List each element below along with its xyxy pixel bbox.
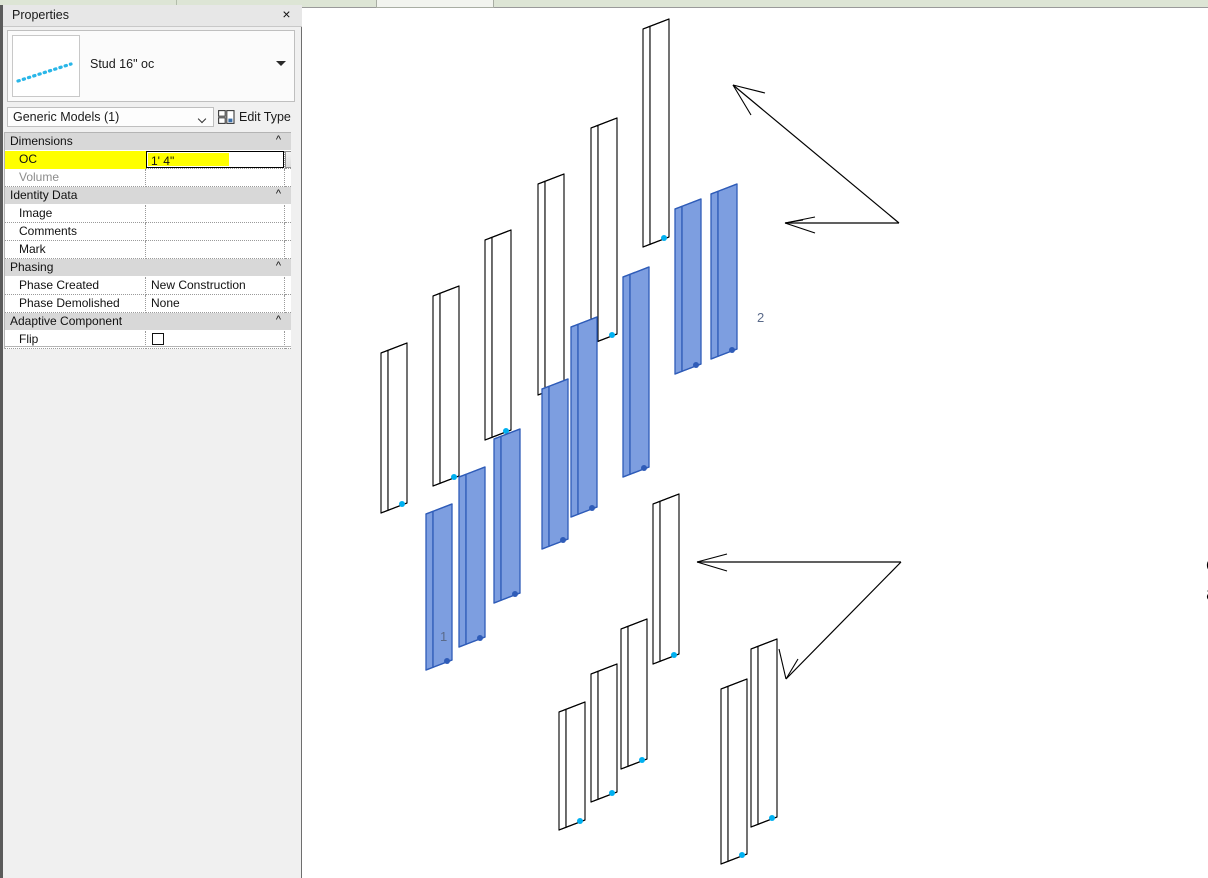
property-name: Phase Demolished <box>5 295 146 313</box>
stud-origin-dot <box>729 347 735 353</box>
collapse-caret-icon[interactable]: ^ <box>276 261 281 272</box>
property-grid-bottom-border <box>4 346 298 347</box>
dotted-line-preview-icon <box>13 36 79 96</box>
property-name: Phase Created <box>5 277 146 295</box>
stud-origin-dot <box>671 652 677 658</box>
collapse-caret-icon[interactable]: ^ <box>276 315 281 326</box>
stud-unselected[interactable] <box>433 286 459 486</box>
property-row[interactable]: Image <box>5 205 297 223</box>
property-value-cell[interactable] <box>146 169 285 187</box>
drawing-canvas[interactable]: 12 fixed o.c.16", 24", etc. eq. spaced,a… <box>303 9 1208 878</box>
type-thumbnail <box>12 35 80 97</box>
stud-origin-dot <box>444 658 450 664</box>
property-value-cell[interactable] <box>146 241 285 259</box>
element-tag[interactable]: 1 <box>440 629 447 644</box>
edit-type-icon <box>218 109 235 125</box>
leader-line <box>786 562 901 679</box>
property-group-header[interactable]: Phasing^ <box>5 259 297 277</box>
stud-origin-dot <box>769 815 775 821</box>
type-selector[interactable]: Stud 16" oc <box>7 30 295 102</box>
stud-origin-dot <box>577 818 583 824</box>
property-value-cell[interactable]: New Construction <box>146 277 285 295</box>
stud-origin-dot <box>693 362 699 368</box>
property-name: Volume <box>5 169 146 187</box>
property-grid: Dimensions^OC1' 4"VolumeIdentity Data^Im… <box>4 132 298 349</box>
flip-checkbox[interactable] <box>152 333 164 345</box>
stud-selected[interactable] <box>542 379 568 549</box>
property-row[interactable]: Mark <box>5 241 297 259</box>
stud-unselected[interactable] <box>485 230 511 440</box>
property-group-label: Dimensions <box>10 134 73 148</box>
property-row[interactable]: Comments <box>5 223 297 241</box>
stud-selected[interactable] <box>494 429 520 603</box>
stud-unselected[interactable] <box>621 619 647 769</box>
category-combobox[interactable]: Generic Models (1) <box>7 107 214 127</box>
leader-arrowhead <box>779 649 798 679</box>
panel-scrollbar[interactable] <box>291 132 299 877</box>
leader-line <box>733 85 899 223</box>
property-group-header[interactable]: Dimensions^ <box>5 133 297 151</box>
chevron-down-icon[interactable] <box>199 116 206 120</box>
collapse-caret-icon[interactable]: ^ <box>276 189 281 200</box>
property-name: Mark <box>5 241 146 259</box>
stud-array-scene: 12 <box>303 9 1208 878</box>
property-value-cell[interactable]: None <box>146 295 285 313</box>
edit-type-label: Edit Type <box>239 110 291 124</box>
edit-type-button[interactable]: Edit Type <box>218 107 291 127</box>
property-name: Comments <box>5 223 146 241</box>
leader-arrowhead <box>785 217 815 233</box>
property-row[interactable]: OC1' 4" <box>5 151 297 169</box>
stud-selected[interactable] <box>623 267 649 477</box>
stud-origin-dot <box>641 465 647 471</box>
property-value: New Construction <box>151 278 246 292</box>
stud-unselected[interactable] <box>591 664 617 802</box>
property-group-header[interactable]: Identity Data^ <box>5 187 297 205</box>
panel-left-edge <box>0 5 3 878</box>
properties-title-bar[interactable]: Properties × <box>3 5 302 27</box>
revit-window: Properties × Stud 16" oc Generic Models … <box>0 0 1208 878</box>
property-group-label: Adaptive Component <box>10 314 122 328</box>
stud-selected[interactable] <box>675 199 701 374</box>
property-value-cell[interactable] <box>146 205 285 223</box>
property-value: None <box>151 296 180 310</box>
stud-origin-dot <box>739 852 745 858</box>
stud-origin-dot <box>451 474 457 480</box>
properties-palette: Properties × Stud 16" oc Generic Models … <box>0 5 302 878</box>
stud-unselected[interactable] <box>751 639 777 827</box>
stud-unselected[interactable] <box>381 343 407 513</box>
stud-origin-dot <box>399 501 405 507</box>
triangle-down-icon[interactable] <box>276 61 286 66</box>
page-title: Properties <box>12 8 69 22</box>
stud-unselected[interactable] <box>643 19 669 247</box>
stud-origin-dot <box>609 332 615 338</box>
type-name-label: Stud 16" oc <box>90 57 154 71</box>
element-tag[interactable]: 2 <box>757 310 764 325</box>
close-icon[interactable]: × <box>279 7 294 23</box>
property-group-label: Identity Data <box>10 188 77 202</box>
stud-selected[interactable] <box>426 504 452 670</box>
property-row[interactable]: Phase CreatedNew Construction <box>5 277 297 295</box>
stud-unselected[interactable] <box>538 174 564 395</box>
stud-origin-dot <box>589 505 595 511</box>
collapse-caret-icon[interactable]: ^ <box>276 135 281 146</box>
property-row[interactable]: Volume <box>5 169 297 187</box>
stud-unselected[interactable] <box>721 679 747 864</box>
stud-origin-dot <box>512 591 518 597</box>
stud-unselected[interactable] <box>653 494 679 664</box>
ribbon-panel-box[interactable] <box>376 0 494 8</box>
property-name: Image <box>5 205 146 223</box>
property-value-cell[interactable]: 1' 4" <box>146 151 285 169</box>
stud-selected[interactable] <box>459 467 485 647</box>
stud-selected[interactable] <box>571 317 597 517</box>
stud-origin-dot <box>477 635 483 641</box>
stud-origin-dot <box>560 537 566 543</box>
stud-unselected[interactable] <box>559 702 585 830</box>
stud-unselected[interactable] <box>591 118 617 344</box>
category-value: Generic Models (1) <box>13 110 119 124</box>
stud-origin-dot <box>609 790 615 796</box>
oc-value-text: 1' 4" <box>151 153 174 170</box>
property-name: OC <box>5 151 146 169</box>
oc-value-editor[interactable]: 1' 4" <box>146 151 284 168</box>
property-row[interactable]: Phase DemolishedNone <box>5 295 297 313</box>
stud-origin-dot <box>661 235 667 241</box>
property-group-header[interactable]: Adaptive Component^ <box>5 313 297 331</box>
property-group-label: Phasing <box>10 260 53 274</box>
property-value-cell[interactable] <box>146 223 285 241</box>
stud-origin-dot <box>639 757 645 763</box>
stud-selected[interactable] <box>711 184 737 359</box>
